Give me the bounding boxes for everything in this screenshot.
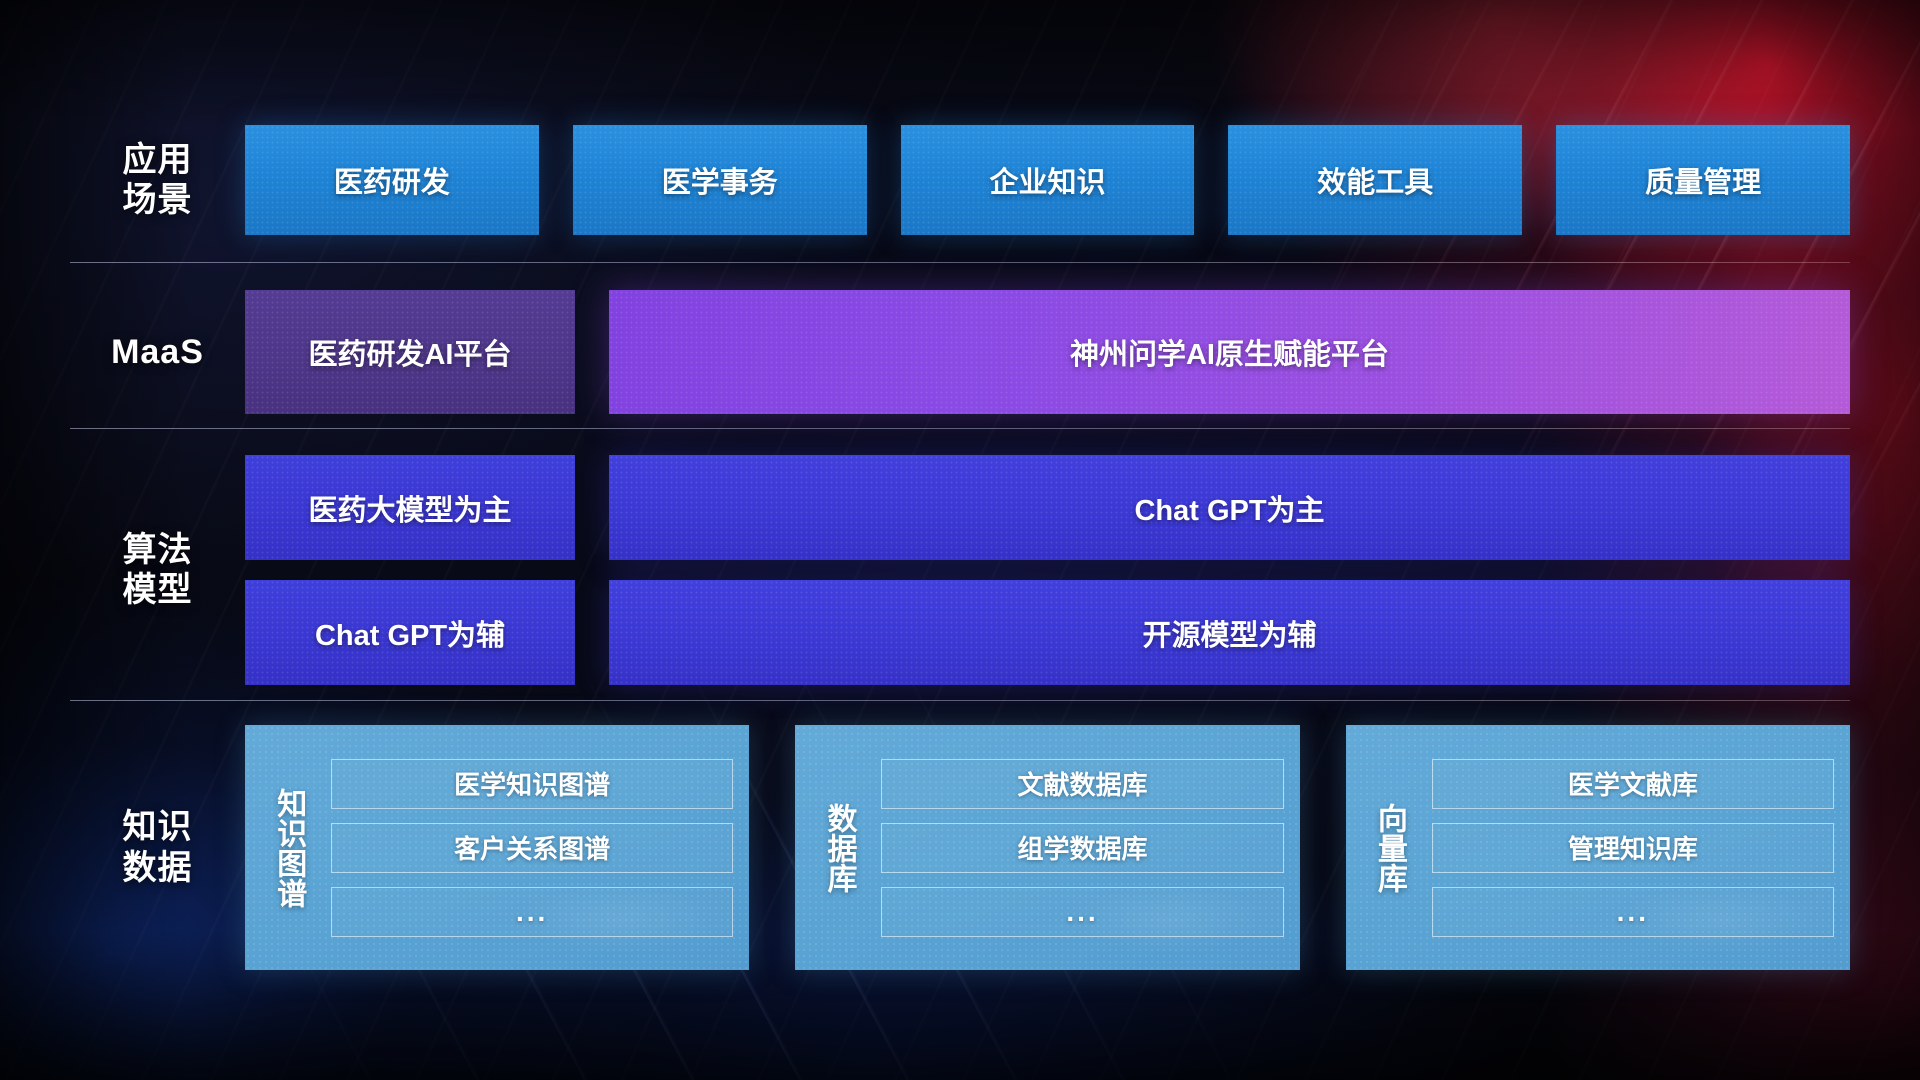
tier-application-scenarios: 应用 场景 医药研发 医学事务 企业知识 效能工具 质量管理 xyxy=(70,125,1850,235)
tier-maas: MaaS 医药研发AI平台 神州问学AI原生赋能平台 xyxy=(70,290,1850,414)
algorithm-row-secondary: Chat GPT为辅 开源模型为辅 xyxy=(245,580,1850,685)
knowledge-item-label: 客户关系图谱 xyxy=(454,829,610,866)
maas-box-group: 医药研发AI平台 神州问学AI原生赋能平台 xyxy=(245,290,1850,414)
algorithm-row-primary: 医药大模型为主 Chat GPT为主 xyxy=(245,455,1850,560)
tier-label-algorithm-models: 算法 模型 xyxy=(70,530,245,610)
knowledge-item-label: 管理知识库 xyxy=(1568,829,1698,866)
knowledge-item-literature-database[interactable]: 文献数据库 xyxy=(881,759,1283,809)
tier-algorithm-models: 算法 模型 医药大模型为主 Chat GPT为主 Chat GPT为辅 开源模型… xyxy=(70,455,1850,685)
knowledge-panel-title-database: 数据库 xyxy=(807,739,869,956)
knowledge-panel-title-knowledge-graph: 知识图谱 xyxy=(257,739,319,956)
algorithm-box-primary-left[interactable]: 医药大模型为主 xyxy=(245,455,575,560)
knowledge-item-label: 文献数据库 xyxy=(1017,765,1147,802)
knowledge-item-label: ... xyxy=(1066,896,1098,928)
knowledge-item-more-database[interactable]: ... xyxy=(881,887,1283,937)
knowledge-item-list-database: 文献数据库 组学数据库 ... xyxy=(869,739,1283,956)
application-scenario-box-group: 医药研发 医学事务 企业知识 效能工具 质量管理 xyxy=(245,125,1850,235)
knowledge-item-label: ... xyxy=(516,896,548,928)
divider-apps-maas xyxy=(70,262,1850,263)
knowledge-item-more-graph[interactable]: ... xyxy=(331,887,733,937)
tier-label-knowledge-data: 知识 数据 xyxy=(70,807,245,887)
knowledge-item-medical-knowledge-graph[interactable]: 医学知识图谱 xyxy=(331,759,733,809)
architecture-diagram-slide: 应用 场景 医药研发 医学事务 企业知识 效能工具 质量管理 MaaS 医药研发… xyxy=(0,0,1920,1080)
knowledge-item-label: 医学文献库 xyxy=(1568,765,1698,802)
knowledge-panel-group: 知识图谱 医学知识图谱 客户关系图谱 ... 数据库 文献数据库 组学数据库 .… xyxy=(245,725,1850,970)
algorithm-box-group: 医药大模型为主 Chat GPT为主 Chat GPT为辅 开源模型为辅 xyxy=(245,455,1850,685)
knowledge-panel-title-vector-store: 向量库 xyxy=(1358,739,1420,956)
knowledge-item-label: 组学数据库 xyxy=(1017,829,1147,866)
algorithm-label-secondary-left: Chat GPT为辅 xyxy=(315,612,505,654)
knowledge-panel-knowledge-graph[interactable]: 知识图谱 医学知识图谱 客户关系图谱 ... xyxy=(245,725,749,970)
app-scenario-box-4[interactable]: 效能工具 xyxy=(1228,125,1522,235)
algorithm-label-primary-right: Chat GPT为主 xyxy=(1134,487,1324,529)
app-scenario-box-1[interactable]: 医药研发 xyxy=(245,125,539,235)
knowledge-item-label: 医学知识图谱 xyxy=(454,765,610,802)
app-scenario-label-3: 企业知识 xyxy=(989,159,1105,201)
app-scenario-label-1: 医药研发 xyxy=(334,159,450,201)
divider-algorithm-knowledge xyxy=(70,700,1850,701)
app-scenario-box-5[interactable]: 质量管理 xyxy=(1556,125,1850,235)
tier-knowledge-data: 知识 数据 知识图谱 医学知识图谱 客户关系图谱 ... 数据库 文献数据库 组 xyxy=(70,725,1850,970)
maas-platform-label-drug-rd: 医药研发AI平台 xyxy=(308,331,511,373)
knowledge-item-customer-relation-graph[interactable]: 客户关系图谱 xyxy=(331,823,733,873)
knowledge-item-list-knowledge-graph: 医学知识图谱 客户关系图谱 ... xyxy=(319,739,733,956)
maas-platform-label-shenzhou: 神州问学AI原生赋能平台 xyxy=(1070,331,1389,373)
maas-platform-box-shenzhou[interactable]: 神州问学AI原生赋能平台 xyxy=(609,290,1850,414)
knowledge-panel-database[interactable]: 数据库 文献数据库 组学数据库 ... xyxy=(795,725,1299,970)
algorithm-box-secondary-left[interactable]: Chat GPT为辅 xyxy=(245,580,575,685)
knowledge-item-omics-database[interactable]: 组学数据库 xyxy=(881,823,1283,873)
algorithm-label-secondary-right: 开源模型为辅 xyxy=(1142,612,1316,654)
knowledge-panel-vector-store[interactable]: 向量库 医学文献库 管理知识库 ... xyxy=(1346,725,1850,970)
algorithm-box-secondary-right[interactable]: 开源模型为辅 xyxy=(609,580,1850,685)
app-scenario-label-5: 质量管理 xyxy=(1645,159,1761,201)
knowledge-item-management-knowledge-store[interactable]: 管理知识库 xyxy=(1432,823,1834,873)
knowledge-item-more-vector[interactable]: ... xyxy=(1432,887,1834,937)
knowledge-item-medical-literature-store[interactable]: 医学文献库 xyxy=(1432,759,1834,809)
app-scenario-label-4: 效能工具 xyxy=(1317,159,1433,201)
maas-platform-box-drug-rd[interactable]: 医药研发AI平台 xyxy=(245,290,575,414)
tier-label-application-scenarios: 应用 场景 xyxy=(70,140,245,220)
app-scenario-label-2: 医学事务 xyxy=(662,159,778,201)
knowledge-item-list-vector-store: 医学文献库 管理知识库 ... xyxy=(1420,739,1834,956)
algorithm-box-primary-right[interactable]: Chat GPT为主 xyxy=(609,455,1850,560)
app-scenario-box-2[interactable]: 医学事务 xyxy=(573,125,867,235)
tier-label-maas: MaaS xyxy=(70,332,245,372)
knowledge-item-label: ... xyxy=(1617,896,1649,928)
algorithm-label-primary-left: 医药大模型为主 xyxy=(308,487,511,529)
divider-maas-algorithm xyxy=(70,428,1850,429)
diagram-content: 应用 场景 医药研发 医学事务 企业知识 效能工具 质量管理 MaaS 医药研发… xyxy=(0,0,1920,1080)
app-scenario-box-3[interactable]: 企业知识 xyxy=(901,125,1195,235)
